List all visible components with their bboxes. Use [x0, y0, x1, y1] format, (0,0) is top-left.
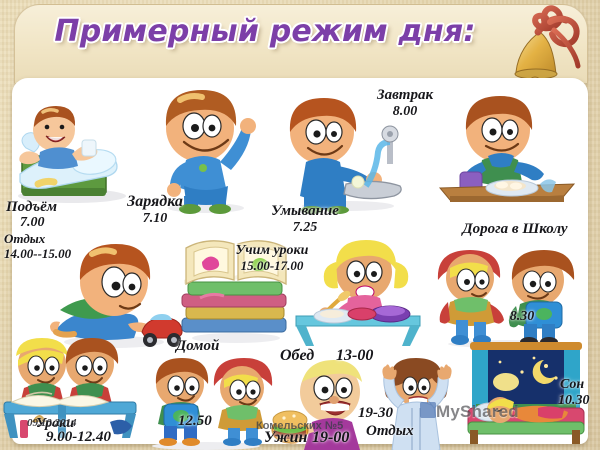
schedule-label-sleep: Сон	[560, 378, 584, 393]
schedule-time-breakfast: 8.00	[350, 105, 460, 120]
schedule-label-exercise: Зарядка	[110, 194, 200, 211]
schedule-time-exercise: 7.10	[110, 212, 200, 227]
schedule-time-way-to-school: 8.30	[492, 310, 552, 325]
child-waking-in-bed-icon	[12, 96, 132, 206]
schedule-label-washing: Умывание	[250, 204, 360, 220]
schedule-time-homework: 15.00-17.00	[212, 259, 332, 273]
schedule-time-rest-evening: 19-30	[358, 406, 393, 422]
schedule-time-rest-day: 14.00--15.00	[4, 246, 71, 262]
schedule-label-wake-up: Подъём	[6, 200, 57, 216]
date-stamp-watermark: 09.10.2014	[27, 417, 77, 429]
school-stamp-watermark: Комельских №5	[256, 420, 343, 432]
myshared-watermark: MyShared	[436, 402, 519, 422]
schedule-time-supper: 19-00	[312, 430, 349, 447]
schedule-time-sleep: 10.30	[558, 394, 590, 409]
schedule-label-breakfast: Завтрак	[350, 88, 460, 104]
schedule-label-lunch: Обед	[280, 348, 314, 365]
two-children-walking-icon	[428, 244, 588, 348]
schedule-label-way-to-school: Дорога в Школу	[440, 222, 590, 238]
schedule-time-home: 12.50	[178, 414, 212, 430]
slide-canvas: Примерный режим дня:	[0, 0, 600, 450]
myshared-logo-icon	[420, 402, 436, 418]
schedule-label-rest-evening: Отдых	[366, 424, 414, 440]
schedule-label-supper: Ужин	[264, 430, 307, 447]
schedule-time-washing: 7.25	[250, 221, 360, 236]
schedule-label-rest-day: Отдых	[4, 232, 45, 246]
children-going-home-icon	[134, 356, 278, 450]
schedule-time-lessons: 9.00-12.40	[46, 430, 111, 446]
schedule-time-lunch: 13-00	[336, 348, 373, 365]
schedule-label-home: Домой	[176, 339, 219, 355]
schedule-time-wake-up: 7.00	[20, 216, 45, 231]
school-bell-icon	[494, 0, 590, 88]
schedule-label-homework: Учим уроки	[212, 244, 332, 259]
